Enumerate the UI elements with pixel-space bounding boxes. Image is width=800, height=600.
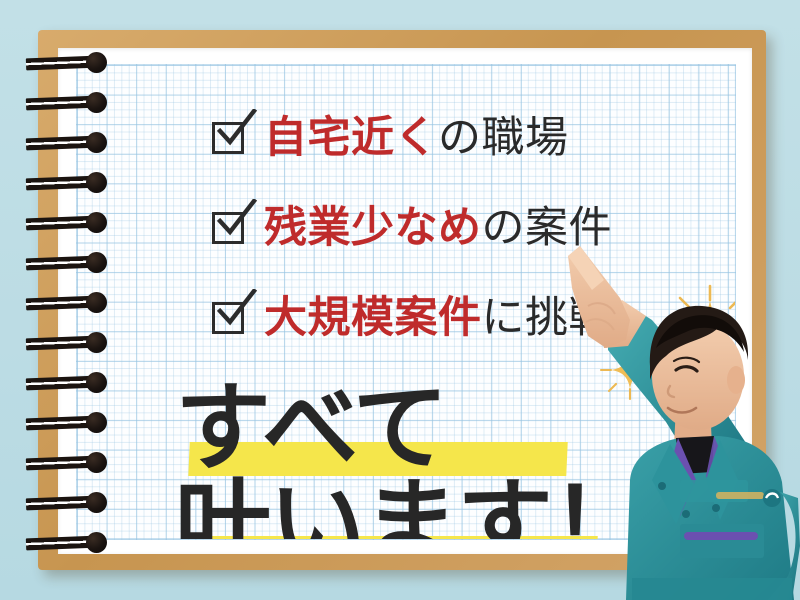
notebook: 自宅近くの職場 残業少なめの案件 (38, 30, 766, 570)
headline: すべて 叶います！ (175, 380, 645, 540)
checklist-item[interactable]: 残業少なめの案件 (212, 183, 736, 273)
headline-text-1: すべて (175, 380, 645, 476)
checklist: 自宅近くの職場 残業少なめの案件 (212, 93, 736, 363)
poster-canvas: 自宅近くの職場 残業少なめの案件 (0, 0, 800, 600)
grid-paper: 自宅近くの職場 残業少なめの案件 (76, 64, 736, 540)
checklist-item-text: 自宅近くの職場 (264, 117, 569, 160)
headline-line-2: 叶います！ (175, 476, 645, 540)
checklist-item-highlight: 残業少なめ (264, 203, 482, 253)
sparkle-icon (597, 337, 663, 403)
checklist-item[interactable]: 自宅近くの職場 (212, 93, 736, 183)
worker-patch-mark (766, 494, 778, 499)
checklist-item-highlight: 自宅近く (264, 113, 438, 163)
checklist-item-rest: の案件 (482, 203, 613, 253)
worker-waistband (632, 578, 792, 600)
headline-text-2: 叶います！ (175, 476, 645, 540)
checkbox-checked-icon[interactable] (212, 212, 244, 244)
checklist-item-rest: に挑戦 (482, 293, 613, 343)
checklist-item-text: 大規模案件に挑戦 (264, 297, 612, 340)
worker-arm-right (768, 492, 800, 600)
checklist-item-text: 残業少なめの案件 (264, 207, 612, 250)
notebook-page-white: 自宅近くの職場 残業少なめの案件 (58, 48, 752, 554)
headline-line-1: すべて (175, 380, 645, 476)
sparkle-icon (662, 280, 736, 376)
checklist-item-rest: の職場 (438, 113, 569, 163)
checkbox-checked-icon[interactable] (212, 302, 244, 334)
checklist-item-highlight: 大規模案件 (264, 293, 482, 343)
checkbox-checked-icon[interactable] (212, 122, 244, 154)
